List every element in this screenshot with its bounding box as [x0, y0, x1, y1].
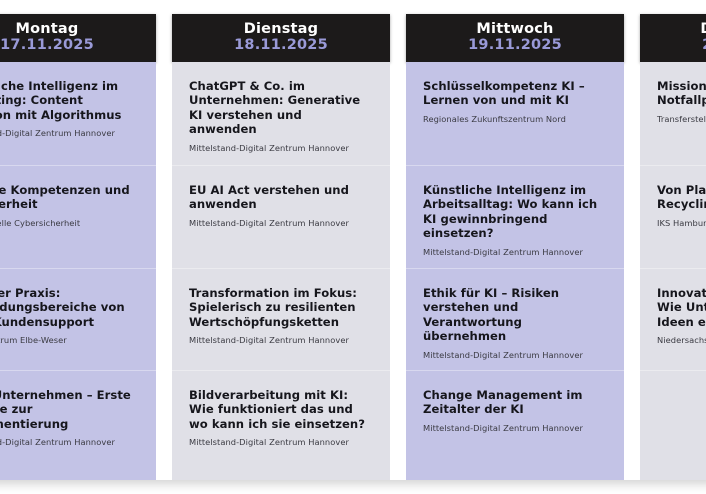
event-organizer: Mittelstand-Digital Zentrum Hannover — [423, 423, 607, 433]
day-events-list: Künstliche Intelligenz im Marketing: Con… — [0, 62, 156, 480]
event-card[interactable]: Innovationskraft steigern: Wie Unternehm… — [640, 268, 706, 370]
event-organizer: Mittelstand-Digital Zentrum Hannover — [0, 128, 139, 138]
event-card[interactable]: Bildverarbeitung mit KI: Wie funktionier… — [172, 370, 390, 474]
event-organizer: Regionales Zukunftszentrum Nord — [423, 114, 607, 124]
event-title: KI in der Praxis: Anwendungsbereiche von… — [0, 286, 139, 329]
event-card[interactable]: Künstliche Intelligenz im Marketing: Con… — [0, 62, 156, 165]
event-organizer: Transferstelle Cybersicherheit — [0, 218, 139, 228]
event-organizer: Mittelstand-Digital Zentrum Hannover — [423, 247, 607, 257]
day-date: 18.11.2025 — [234, 37, 328, 54]
event-card[interactable]: Mission Possible: Der IT-NotfallplanTran… — [640, 62, 706, 165]
event-title: Transformation im Fokus: Spielerisch zu … — [189, 286, 373, 329]
day-date: 20.11.2025 — [702, 37, 706, 54]
event-title: Mission Possible: Der IT-Notfallplan — [657, 79, 706, 108]
event-card[interactable]: Digitale Kompetenzen und IT-SicherheitTr… — [0, 165, 156, 268]
event-cell-empty — [640, 370, 706, 474]
event-title: Ethik für KI – Risiken verstehen und Ver… — [423, 286, 607, 344]
event-card[interactable]: Schlüsselkompetenz KI – Lernen von und m… — [406, 62, 624, 165]
day-column: Dienstag18.11.2025ChatGPT & Co. im Unter… — [172, 0, 390, 480]
event-organizer: IKS Hamburg — [657, 218, 706, 228]
day-header[interactable]: Mittwoch19.11.2025 — [406, 14, 624, 62]
event-card[interactable]: EU AI Act verstehen und anwendenMittelst… — [172, 165, 390, 268]
event-organizer: Digitalzentrum Elbe-Weser — [0, 335, 139, 345]
event-card[interactable]: Change Management im Zeitalter der KIMit… — [406, 370, 624, 474]
event-card[interactable]: Transformation im Fokus: Spielerisch zu … — [172, 268, 390, 370]
event-title: Innovationskraft steigern: Wie Unternehm… — [657, 286, 706, 329]
event-card[interactable]: Von Plastik zu Gold: Wie KI Recycling sm… — [640, 165, 706, 268]
event-title: Bildverarbeitung mit KI: Wie funktionier… — [189, 388, 373, 431]
event-card[interactable]: KI in der Praxis: Anwendungsbereiche von… — [0, 268, 156, 370]
event-organizer: Transferstelle Cybersicherheit — [657, 114, 706, 124]
event-card[interactable]: KI im Unternehmen – Erste Schritte zur I… — [0, 370, 156, 474]
week-grid: Montag17.11.2025Künstliche Intelligenz i… — [0, 0, 706, 480]
day-column: Donnerstag20.11.2025Mission Possible: De… — [640, 0, 706, 480]
event-title: Schlüsselkompetenz KI – Lernen von und m… — [423, 79, 607, 108]
event-organizer: Mittelstand-Digital Zentrum Hannover — [189, 143, 373, 153]
event-organizer: Mittelstand-Digital Zentrum Hannover — [189, 335, 373, 345]
event-title: Von Plastik zu Gold: Wie KI Recycling sm… — [657, 183, 706, 212]
event-title: EU AI Act verstehen und anwenden — [189, 183, 373, 212]
day-column: Mittwoch19.11.2025Schlüsselkompetenz KI … — [406, 0, 624, 480]
day-events-list: Mission Possible: Der IT-NotfallplanTran… — [640, 62, 706, 480]
event-card[interactable]: Künstliche Intelligenz im Arbeitsalltag:… — [406, 165, 624, 268]
day-events-list: Schlüsselkompetenz KI – Lernen von und m… — [406, 62, 624, 480]
day-header[interactable]: Dienstag18.11.2025 — [172, 14, 390, 62]
event-title: KI im Unternehmen – Erste Schritte zur I… — [0, 388, 139, 431]
day-date: 17.11.2025 — [0, 37, 94, 54]
event-organizer: Mittelstand-Digital Zentrum Hannover — [189, 218, 373, 228]
day-name: Mittwoch — [476, 22, 553, 37]
day-date: 19.11.2025 — [468, 37, 562, 54]
day-name: Dienstag — [244, 22, 319, 37]
event-organizer: Mittelstand-Digital Zentrum Hannover — [189, 437, 373, 447]
event-organizer: Niedersachsen.next Digital — [657, 335, 706, 345]
event-title: ChatGPT & Co. im Unternehmen: Generative… — [189, 79, 373, 137]
event-title: Künstliche Intelligenz im Marketing: Con… — [0, 79, 139, 122]
event-title: Change Management im Zeitalter der KI — [423, 388, 607, 417]
day-events-list: ChatGPT & Co. im Unternehmen: Generative… — [172, 62, 390, 480]
event-organizer: Mittelstand-Digital Zentrum Hannover — [0, 437, 139, 447]
day-header[interactable]: Donnerstag20.11.2025 — [640, 14, 706, 62]
schedule-screen: Montag17.11.2025Künstliche Intelligenz i… — [0, 0, 706, 494]
day-column: Montag17.11.2025Künstliche Intelligenz i… — [0, 0, 156, 480]
day-name: Montag — [15, 22, 78, 37]
day-header[interactable]: Montag17.11.2025 — [0, 14, 156, 62]
event-card[interactable]: ChatGPT & Co. im Unternehmen: Generative… — [172, 62, 390, 165]
event-title: Künstliche Intelligenz im Arbeitsalltag:… — [423, 183, 607, 241]
event-organizer: Mittelstand-Digital Zentrum Hannover — [423, 350, 607, 360]
event-card[interactable]: Ethik für KI – Risiken verstehen und Ver… — [406, 268, 624, 370]
event-title: Digitale Kompetenzen und IT-Sicherheit — [0, 183, 139, 212]
day-name: Donnerstag — [700, 22, 706, 37]
